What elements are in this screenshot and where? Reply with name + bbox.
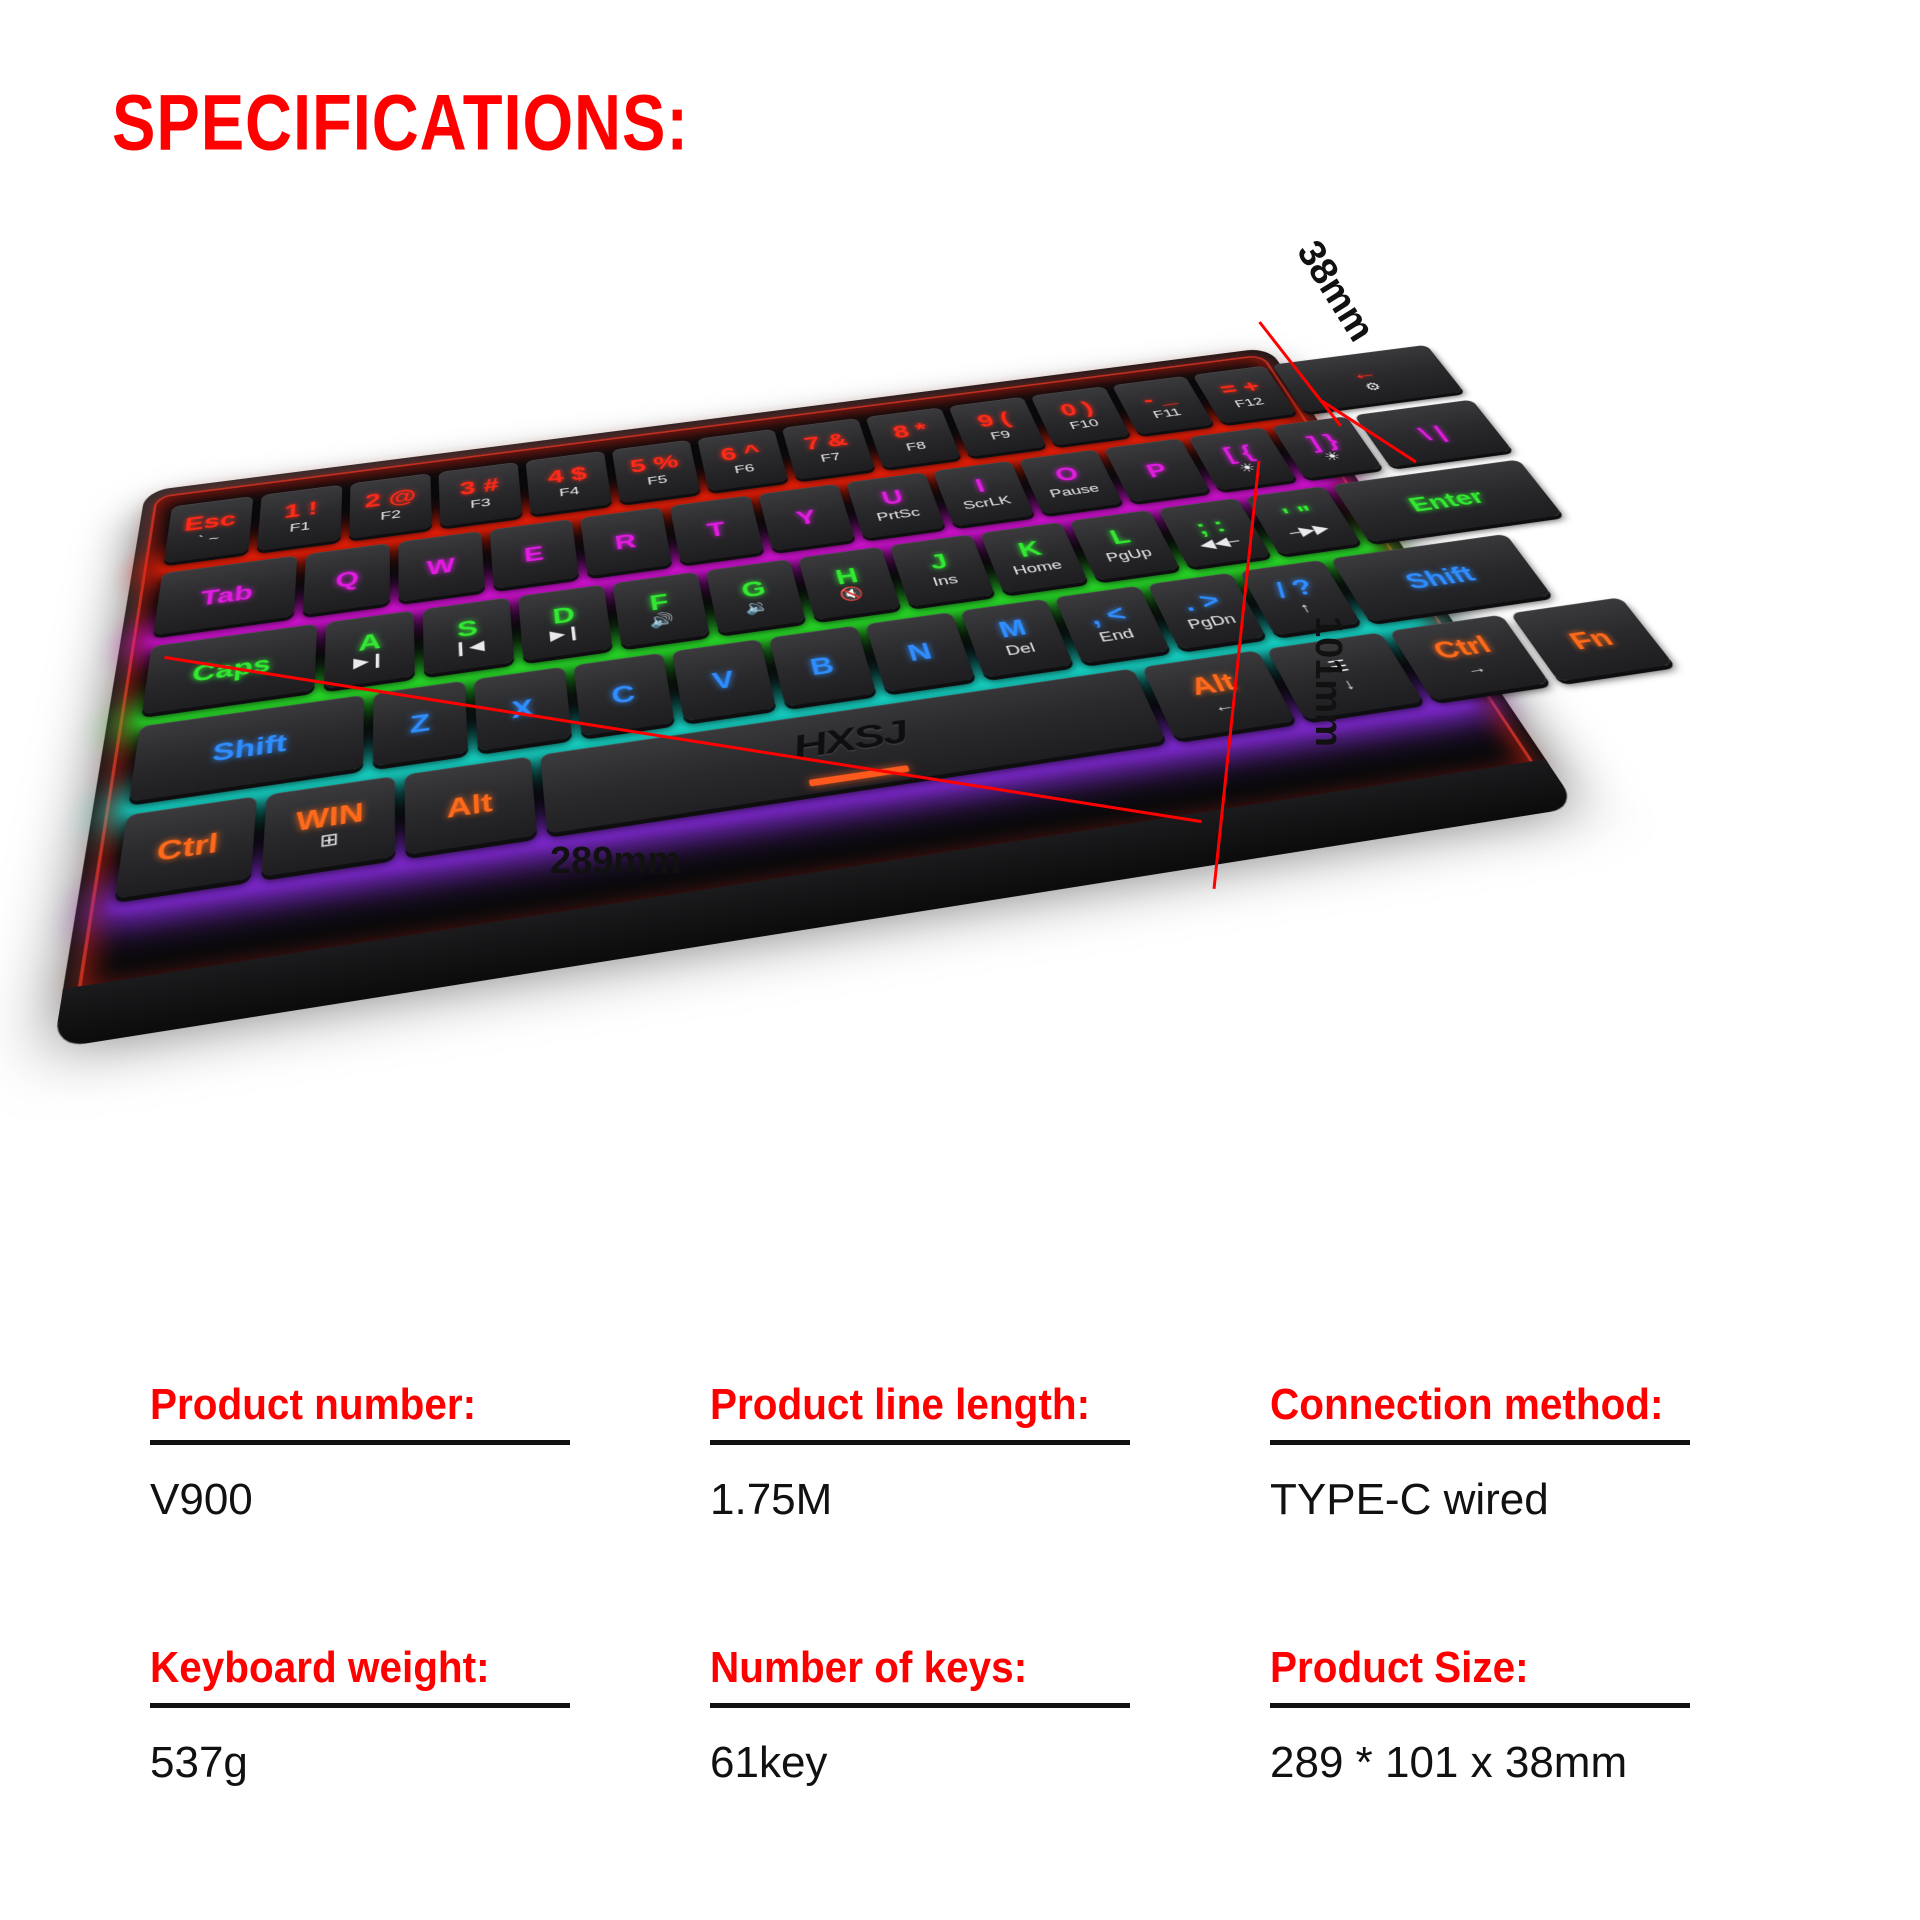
key-sublegend: F6 xyxy=(733,462,756,478)
key-legend: 1 ! xyxy=(283,499,318,521)
key-sublegend: F10 xyxy=(1067,417,1101,433)
key-legend: 9 ( xyxy=(975,410,1013,430)
key-t[interactable]: T xyxy=(670,495,765,563)
key-key[interactable]: \ | xyxy=(1354,400,1512,468)
key-sublegend: F7 xyxy=(819,450,843,465)
key-sublegend: F3 xyxy=(470,496,491,512)
keyboard-illustration: Esc` ~1 !F12 @F23 #F34 $F45 %F56 ^F67 &F… xyxy=(150,300,1570,1100)
spec-underline xyxy=(1270,1440,1690,1445)
key-sublegend: F8 xyxy=(904,439,928,454)
spec-item: Product number:V900 xyxy=(150,1380,670,1525)
key-4[interactable]: 4 $F4 xyxy=(526,451,612,515)
key-legend: O xyxy=(1052,464,1082,484)
key-j[interactable]: JIns xyxy=(889,534,995,606)
key-9[interactable]: 9 (F9 xyxy=(948,397,1046,457)
volume-down-icon: 🔉 xyxy=(744,599,771,616)
key-5[interactable]: 5 %F5 xyxy=(612,440,701,503)
key-sublegend: F12 xyxy=(1232,395,1267,411)
spec-underline xyxy=(710,1440,1130,1445)
key-legend: J xyxy=(927,551,950,573)
key-legend: Tab xyxy=(200,582,254,609)
height-dim-label: 101mm xyxy=(1306,616,1349,747)
key-esc[interactable]: Esc` ~ xyxy=(164,496,254,563)
key-u[interactable]: UPrtSc xyxy=(846,472,946,539)
spec-label: Product line length: xyxy=(710,1380,1188,1430)
key-legend: 7 & xyxy=(802,431,849,453)
specification-page: SPECIFICATIONS: Esc` ~1 !F12 @F23 #F34 $… xyxy=(0,0,1920,1920)
spec-item: Keyboard weight:537g xyxy=(150,1643,670,1788)
key-7[interactable]: 7 &F7 xyxy=(782,418,875,480)
key-sublegend: Home xyxy=(1011,557,1065,579)
key-0[interactable]: 0 )F10 xyxy=(1031,386,1131,445)
key-legend: L xyxy=(1107,526,1134,547)
key-sublegend: Pause xyxy=(1047,481,1102,501)
key-q[interactable]: Q xyxy=(303,543,390,615)
key-legend: 5 % xyxy=(629,453,680,476)
spec-underline xyxy=(1270,1703,1690,1708)
key-sublegend: F11 xyxy=(1151,406,1185,422)
key-legend: W xyxy=(427,555,456,578)
spec-value: 537g xyxy=(150,1738,670,1788)
key-legend: ; : xyxy=(1192,515,1229,537)
volume-mute-icon: 🔇 xyxy=(838,586,866,602)
key-8[interactable]: 8 *F8 xyxy=(865,407,961,468)
key-y[interactable]: Y xyxy=(758,484,855,551)
spec-value: V900 xyxy=(150,1475,670,1525)
spec-item: Number of keys:61key xyxy=(710,1643,1230,1788)
key-legend: 4 $ xyxy=(547,464,588,486)
key-legend: Q xyxy=(335,568,359,591)
key-legend: Y xyxy=(794,507,818,528)
key-6[interactable]: 6 ^F6 xyxy=(697,429,788,491)
key-legend: - _ xyxy=(1139,389,1178,409)
key-legend: Enter xyxy=(1404,486,1488,514)
backspace-gear-icon: ⚙ xyxy=(1362,381,1384,393)
key-legend: 3 # xyxy=(459,476,499,498)
spec-label: Product number: xyxy=(150,1380,628,1430)
key-legend: 8 * xyxy=(891,421,930,442)
key-sublegend: F5 xyxy=(646,473,669,489)
key-legend: Esc xyxy=(183,509,237,534)
key-k[interactable]: KHome xyxy=(980,522,1088,594)
brightness-down-icon: ☀ xyxy=(1321,450,1344,463)
key-legend: F xyxy=(648,591,670,614)
key-legend: H xyxy=(833,565,860,588)
key-sublegend: F1 xyxy=(289,519,311,536)
key-w[interactable]: W xyxy=(398,531,485,602)
spec-underline xyxy=(150,1703,570,1708)
key-sublegend: F4 xyxy=(558,484,580,500)
key-legend: ' " xyxy=(1279,503,1318,525)
key-legend: \ | xyxy=(1415,423,1450,443)
key-legend: P xyxy=(1143,460,1171,480)
key-sublegend: ` ~ xyxy=(197,531,220,548)
key-legend: Shift xyxy=(1401,563,1480,592)
key-sublegend: F9 xyxy=(988,428,1013,443)
key-r[interactable]: R xyxy=(580,507,672,576)
key-legend: U xyxy=(879,487,905,508)
spec-item: Connection method:TYPE-C wired xyxy=(1270,1380,1790,1525)
keyboard-3d: Esc` ~1 !F12 @F23 #F34 $F45 %F56 ^F67 &F… xyxy=(95,363,1518,984)
key-h[interactable]: H🔇 xyxy=(798,547,901,620)
depth-dim-label: 38mm xyxy=(1288,234,1383,350)
key-o[interactable]: OPause xyxy=(1019,449,1123,514)
key-sublegend: Ins xyxy=(931,572,961,591)
spec-label: Keyboard weight: xyxy=(150,1643,628,1693)
key-legend: Fn xyxy=(1564,626,1617,653)
key-e[interactable]: E xyxy=(490,519,579,589)
key-legend: R xyxy=(613,531,637,553)
spec-grid: Product number:V900Product line length:1… xyxy=(150,1380,1790,1788)
key-legend: K xyxy=(1015,538,1044,560)
page-title: SPECIFICATIONS: xyxy=(112,78,689,168)
width-dim-label: 289mm xyxy=(550,840,681,883)
key-legend: T xyxy=(705,519,727,540)
key-sublegend: F2 xyxy=(380,508,401,524)
key-legend: G xyxy=(739,577,767,600)
key-1[interactable]: 1 !F1 xyxy=(257,485,342,551)
spec-item: Product Size:289 * 101 x 38mm xyxy=(1270,1643,1790,1788)
spec-label: Connection method: xyxy=(1270,1380,1748,1430)
key-2[interactable]: 2 @F2 xyxy=(349,473,432,539)
key-sublegend: PrtSc xyxy=(875,505,923,525)
key-sublegend: ScrLK xyxy=(961,493,1014,513)
key-legend: 2 @ xyxy=(365,486,417,510)
key-i[interactable]: IScrLK xyxy=(933,461,1035,527)
spec-value: 1.75M xyxy=(710,1475,1230,1525)
key-sublegend: PgUp xyxy=(1103,545,1155,566)
spec-label: Product Size: xyxy=(1270,1643,1748,1693)
spec-label: Number of keys: xyxy=(710,1643,1188,1693)
key-legend: E xyxy=(523,543,545,565)
spec-value: TYPE-C wired xyxy=(1270,1475,1790,1525)
key-legend: I xyxy=(973,477,988,496)
spec-underline xyxy=(710,1703,1130,1708)
key-legend: 0 ) xyxy=(1057,399,1096,419)
key-legend: 6 ^ xyxy=(719,442,762,464)
spec-value: 61key xyxy=(710,1738,1230,1788)
key-3[interactable]: 3 #F3 xyxy=(438,462,522,527)
spec-value: 289 * 101 x 38mm xyxy=(1270,1738,1790,1788)
key-legend: D xyxy=(552,603,576,627)
spec-item: Product line length:1.75M xyxy=(710,1380,1230,1525)
spec-underline xyxy=(150,1440,570,1445)
